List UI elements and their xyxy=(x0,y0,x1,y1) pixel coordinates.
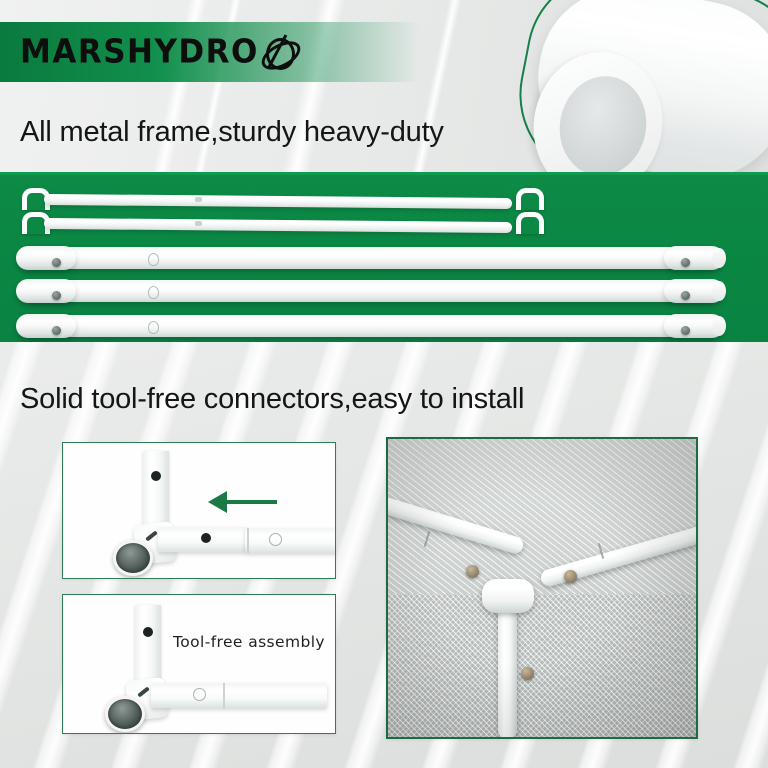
connector-pin-hole xyxy=(151,471,161,481)
connector-horizontal-tube xyxy=(151,683,327,708)
frame-pole-3 xyxy=(20,315,720,337)
frame-pole-1 xyxy=(20,247,720,269)
parts-green-band xyxy=(0,172,768,342)
brand-logo-text: MARSHYDRO xyxy=(20,36,259,69)
insert-direction-arrow xyxy=(225,500,277,504)
headline-metal-frame: All metal frame,sturdy heavy-duty xyxy=(20,116,444,149)
headline-connectors: Solid tool-free connectors,easy to insta… xyxy=(20,383,524,416)
frame-pole-2 xyxy=(20,280,720,302)
connector-seam xyxy=(247,528,249,553)
connector-pin-hole xyxy=(143,627,153,637)
connector-exploded-diagram xyxy=(62,442,336,579)
connector-assembled-diagram: Tool-free assembly xyxy=(62,594,336,734)
photo-vignette xyxy=(388,439,696,737)
connector-screw-mark xyxy=(269,533,282,546)
tent-corner-photo xyxy=(386,437,698,739)
connector-open-socket xyxy=(105,696,145,732)
hook-end-left xyxy=(18,212,44,231)
brand-logo: MARSHYDRO xyxy=(20,28,295,76)
connector-screw-mark xyxy=(193,688,206,701)
connector-seam xyxy=(223,683,225,708)
corner-hook-bar-1 xyxy=(18,192,538,207)
assembly-caption: Tool-free assembly xyxy=(173,633,325,651)
product-infographic: MARSHYDRO All metal frame,sturdy heavy-d… xyxy=(0,0,768,768)
hook-end-right xyxy=(512,212,538,231)
hook-end-right xyxy=(512,188,538,207)
hook-end-left xyxy=(18,188,44,207)
connector-insert-tube xyxy=(245,528,336,553)
planet-ring-icon xyxy=(261,35,295,69)
connector-open-socket xyxy=(113,540,153,576)
connector-pin-hole xyxy=(201,533,211,543)
corner-hook-bar-2 xyxy=(18,216,538,231)
